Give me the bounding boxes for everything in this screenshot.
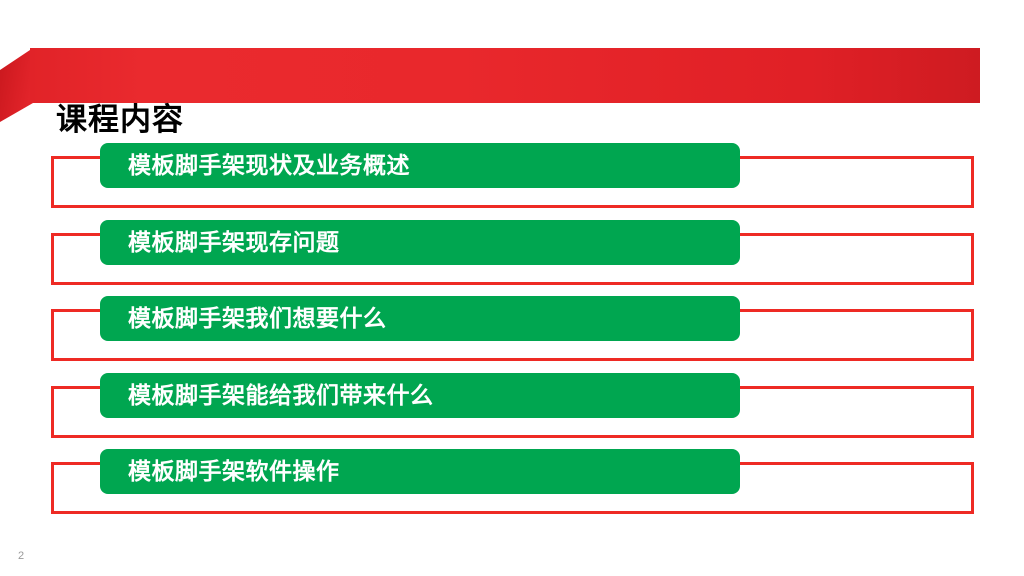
row-bar-3[interactable]: 模板脚手架我们想要什么: [100, 296, 740, 341]
slide-canvas: 课程内容 模板脚手架现状及业务概述 模板脚手架现存问题 模板脚手架我们想要什么 …: [0, 0, 1024, 576]
content-list: 模板脚手架现状及业务概述 模板脚手架现存问题 模板脚手架我们想要什么 模板脚手架…: [0, 0, 1024, 576]
row-bar-2[interactable]: 模板脚手架现存问题: [100, 220, 740, 265]
content-item-label-4: 模板脚手架能给我们带来什么: [128, 373, 434, 418]
row-bar-4[interactable]: 模板脚手架能给我们带来什么: [100, 373, 740, 418]
row-bar-5[interactable]: 模板脚手架软件操作: [100, 449, 740, 494]
content-item-label-5: 模板脚手架软件操作: [128, 449, 340, 494]
content-row-2[interactable]: 模板脚手架现存问题: [0, 212, 1024, 289]
content-row-3[interactable]: 模板脚手架我们想要什么: [0, 288, 1024, 365]
row-bar-1[interactable]: 模板脚手架现状及业务概述: [100, 143, 740, 188]
content-item-label-1: 模板脚手架现状及业务概述: [128, 143, 410, 188]
page-number: 2: [18, 550, 24, 562]
content-row-1[interactable]: 模板脚手架现状及业务概述: [0, 135, 1024, 212]
content-row-4[interactable]: 模板脚手架能给我们带来什么: [0, 365, 1024, 442]
content-row-5[interactable]: 模板脚手架软件操作: [0, 441, 1024, 518]
content-item-label-3: 模板脚手架我们想要什么: [128, 296, 387, 341]
content-item-label-2: 模板脚手架现存问题: [128, 220, 340, 265]
